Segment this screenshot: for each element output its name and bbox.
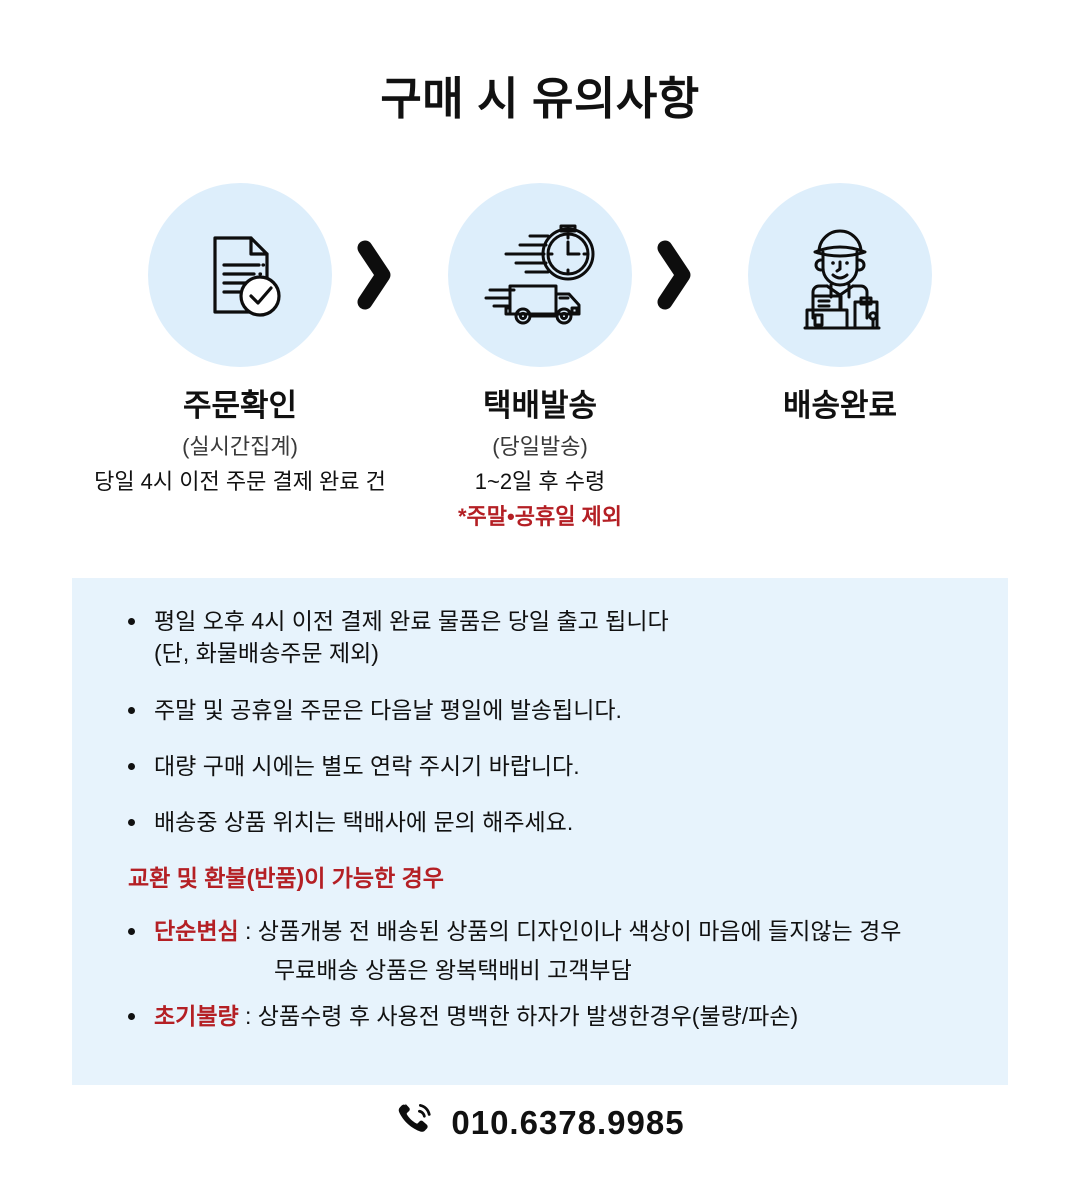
step-shipping: 택배발송 (당일발송) 1~2일 후 수령 *주말•공휴일 제외 [390,183,690,531]
list-item: 배송중 상품 위치는 택배사에 문의 해주세요. [106,807,974,837]
document-check-icon [185,220,295,330]
step-1-title: 주문확인 [90,387,390,424]
chevron-right-icon [352,235,398,315]
bullet-text-1b: (단, 화물배송주문 제외) [154,638,974,668]
reason-subtext-1: 무료배송 상품은 왕복택배비 고객부담 [274,955,974,986]
bullet-text-3: 대량 구매 시에는 별도 연락 주시기 바랍니다. [154,753,580,779]
step-3-icon-circle [748,183,932,367]
page-title: 구매 시 유의사항 [0,62,1080,127]
list-item: 대량 구매 시에는 별도 연락 주시기 바랍니다. [106,751,974,781]
step-2-detail: 1~2일 후 수령 [390,468,690,496]
list-item: 초기불량 : 상품수령 후 사용전 명백한 하자가 발생한경우(불량/파손) [106,1001,974,1032]
step-1-subtitle: (실시간집계) [90,433,390,461]
step-2-subtitle: (당일발송) [390,433,690,461]
list-item: 평일 오후 4시 이전 결제 완료 물품은 당일 출고 됩니다 (단, 화물배송… [106,606,974,669]
step-2-icon-circle [448,183,632,367]
bullet-text-4: 배송중 상품 위치는 택배사에 문의 해주세요. [154,809,573,835]
step-3-title: 배송완료 [690,387,990,424]
refund-policy-heading: 교환 및 환불(반품)이 가능한 경우 [128,864,974,894]
list-item: 단순변심 : 상품개봉 전 배송된 상품의 디자인이나 색상이 마음에 들지않는… [106,916,974,947]
reason-label-2: 초기불량 [154,1003,239,1029]
delivery-steps: 주문확인 (실시간집계) 당일 4시 이전 주문 결제 완료 건 [0,183,1080,543]
reason-label-1: 단순변심 [154,918,239,944]
bullet-text-1: 평일 오후 4시 이전 결제 완료 물품은 당일 출고 됩니다 [154,608,669,634]
reason-text-2: : 상품수령 후 사용전 명백한 하자가 발생한경우(불량/파손) [239,1003,799,1029]
notice-box: 평일 오후 4시 이전 결제 완료 물품은 당일 출고 됩니다 (단, 화물배송… [72,578,1008,1085]
step-2-note: *주말•공휴일 제외 [390,503,690,531]
chevron-right-icon [652,235,698,315]
phone-ringing-icon [395,1100,435,1145]
contact-phone[interactable]: 010.6378.9985 [0,1100,1080,1145]
step-order-confirm: 주문확인 (실시간집계) 당일 4시 이전 주문 결제 완료 건 [90,183,390,495]
step-1-detail: 당일 4시 이전 주문 결제 완료 건 [90,468,390,496]
list-item: 주말 및 공휴일 주문은 다음날 평일에 발송됩니다. [106,695,974,725]
step-1-icon-circle [148,183,332,367]
step-2-title: 택배발송 [390,387,690,424]
fast-delivery-truck-icon [480,218,600,333]
step-delivered: 배송완료 [690,183,990,424]
reason-text-1: : 상품개봉 전 배송된 상품의 디자인이나 색상이 마음에 들지않는 경우 [239,918,902,944]
phone-number: 010.6378.9985 [451,1104,684,1142]
bullet-text-2: 주말 및 공휴일 주문은 다음날 평일에 발송됩니다. [154,697,622,723]
delivery-person-icon [781,216,899,334]
